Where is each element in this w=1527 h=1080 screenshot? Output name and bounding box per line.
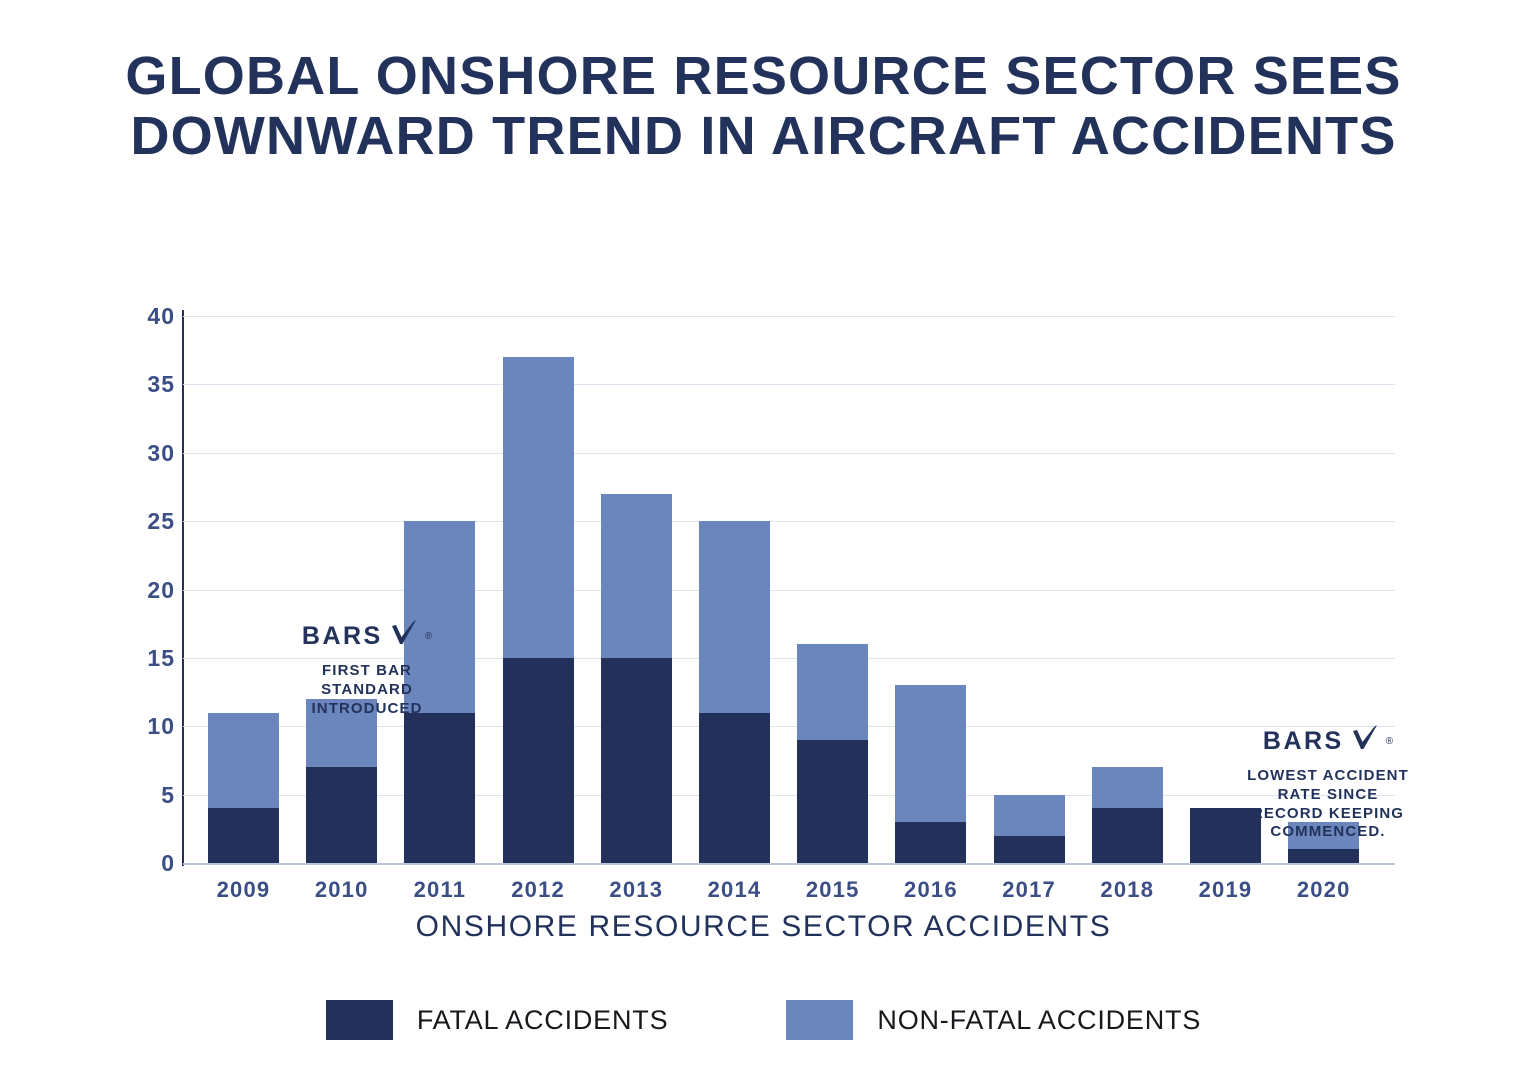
y-axis-tick-label: 0 [115, 850, 175, 877]
bar-stack[interactable] [306, 699, 377, 863]
bar-segment-non-fatal[interactable] [208, 713, 279, 809]
x-axis-line [183, 863, 1395, 865]
check-swoosh-icon [1350, 723, 1380, 760]
bar-stack[interactable] [1092, 767, 1163, 863]
y-axis-tick-label: 25 [115, 508, 175, 535]
bar-segment-non-fatal[interactable] [699, 521, 770, 712]
x-axis-tick-label: 2014 [699, 877, 770, 903]
y-axis-tick-label: 35 [115, 371, 175, 398]
bar-segment-non-fatal[interactable] [895, 685, 966, 822]
registered-mark: ® [1386, 736, 1393, 747]
x-axis-tick-label: 2009 [208, 877, 279, 903]
x-axis-tick-label: 2016 [895, 877, 966, 903]
bars-logo: BARS ® [1240, 723, 1416, 760]
bar-stack[interactable] [699, 521, 770, 863]
x-axis-tick-label: 2019 [1190, 877, 1261, 903]
legend-label: FATAL ACCIDENTS [417, 1005, 669, 1036]
bar-segment-non-fatal[interactable] [797, 644, 868, 740]
bar-segment-fatal[interactable] [994, 836, 1065, 863]
y-axis-tick-label: 15 [115, 645, 175, 672]
legend-item[interactable]: FATAL ACCIDENTS [326, 1000, 669, 1040]
bar-stack[interactable] [601, 494, 672, 863]
chart-area: 0510152025303540 20092010201120122013201… [0, 0, 1527, 1080]
y-axis-tick-label: 5 [115, 782, 175, 809]
bar-segment-non-fatal[interactable] [1092, 767, 1163, 808]
bars-logo-text: BARS [1263, 727, 1344, 756]
x-axis-tick-label: 2018 [1092, 877, 1163, 903]
check-swoosh-icon [389, 618, 419, 655]
bar-stack[interactable] [503, 357, 574, 863]
bar-segment-fatal[interactable] [797, 740, 868, 863]
x-axis-tick-label: 2017 [994, 877, 1065, 903]
bar-segment-fatal[interactable] [404, 713, 475, 863]
bar-stack[interactable] [994, 795, 1065, 863]
bar-segment-fatal[interactable] [208, 808, 279, 863]
registered-mark: ® [425, 631, 432, 642]
bar-stack[interactable] [895, 685, 966, 863]
bar-segment-fatal[interactable] [1288, 849, 1359, 863]
bar-stack[interactable] [797, 644, 868, 863]
bar-segment-fatal[interactable] [601, 658, 672, 863]
y-axis-tick-label: 10 [115, 713, 175, 740]
annotation-first-bar-standard: BARS ® FIRST BAR STANDARD INTRODUCED [287, 618, 447, 718]
x-axis-title: ONSHORE RESOURCE SECTOR ACCIDENTS [0, 910, 1527, 944]
bars-logo: BARS ® [287, 618, 447, 655]
x-axis-tick-label: 2012 [503, 877, 574, 903]
bar-segment-fatal[interactable] [306, 767, 377, 863]
x-axis-tick-label: 2011 [404, 877, 475, 903]
annotation-text: FIRST BAR STANDARD INTRODUCED [287, 662, 447, 718]
bar-series [183, 316, 1395, 863]
x-axis-tick-label: 2015 [797, 877, 868, 903]
annotation-lowest-accident-rate: BARS ® LOWEST ACCIDENT RATE SINCE RECORD… [1240, 723, 1416, 842]
bar-segment-fatal[interactable] [503, 658, 574, 863]
bar-segment-non-fatal[interactable] [994, 795, 1065, 836]
bars-logo-text: BARS [302, 622, 383, 651]
chart-legend: FATAL ACCIDENTSNON-FATAL ACCIDENTS [0, 1000, 1527, 1040]
bar-segment-fatal[interactable] [895, 822, 966, 863]
bar-segment-fatal[interactable] [1092, 808, 1163, 863]
annotation-text: LOWEST ACCIDENT RATE SINCE RECORD KEEPIN… [1240, 767, 1416, 842]
bar-stack[interactable] [208, 713, 279, 863]
legend-swatch [786, 1000, 853, 1040]
legend-swatch [326, 1000, 393, 1040]
legend-item[interactable]: NON-FATAL ACCIDENTS [786, 1000, 1201, 1040]
x-axis-tick-label: 2010 [306, 877, 377, 903]
y-axis-tick-label: 40 [115, 303, 175, 330]
bar-segment-non-fatal[interactable] [503, 357, 574, 658]
y-axis-tick-label: 30 [115, 440, 175, 467]
bar-segment-non-fatal[interactable] [601, 494, 672, 658]
x-axis-tick-label: 2020 [1288, 877, 1359, 903]
x-axis-tick-label: 2013 [601, 877, 672, 903]
legend-label: NON-FATAL ACCIDENTS [877, 1005, 1201, 1036]
y-axis-tick-label: 20 [115, 577, 175, 604]
bar-segment-fatal[interactable] [699, 713, 770, 863]
